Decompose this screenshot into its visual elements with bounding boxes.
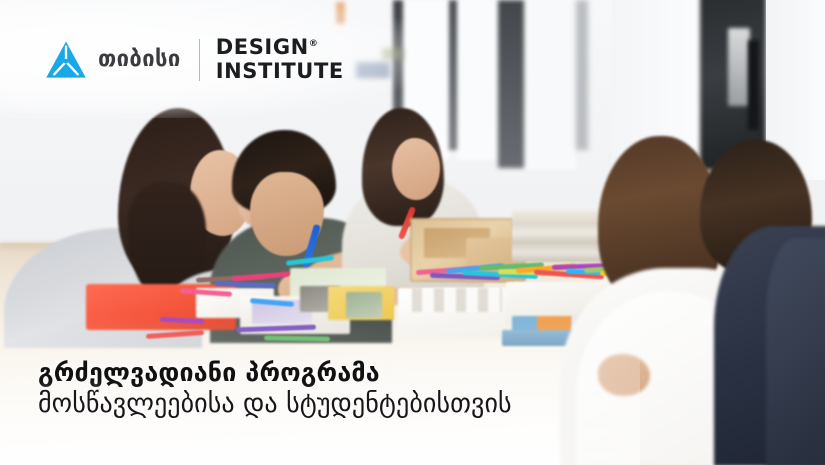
background-object	[748, 40, 759, 130]
person-front-right-sleeve	[766, 238, 825, 465]
person-middle-face	[392, 138, 440, 200]
wall-panel-light	[524, 0, 576, 170]
background-orange-item	[336, 2, 345, 24]
design-institute-line-1: DESIGN®	[216, 36, 344, 60]
registered-mark: ®	[309, 39, 318, 49]
design-institute-banner: თიბისი DESIGN® INSTITUTE გრძელვადიანი პრ…	[0, 0, 825, 465]
design-word: DESIGN	[216, 35, 309, 59]
wall-panel-grey	[576, 0, 588, 150]
design-institute-wordmark: DESIGN® INSTITUTE	[216, 36, 344, 84]
background-blue-item	[356, 62, 390, 78]
design-institute-line-2: INSTITUTE	[216, 60, 344, 84]
stacked-books	[512, 210, 610, 262]
brand-wordmark-georgian: თიბისი	[98, 49, 181, 71]
background-olive-item	[382, 48, 404, 60]
tbc-triangle-logo-icon	[45, 40, 87, 80]
caption-subline: მოსწავლეებისა და სტუდენტებისთვის	[38, 389, 512, 421]
logo-divider	[199, 39, 200, 81]
paper-swatch-sage	[346, 292, 382, 318]
wall-panel-light	[457, 0, 498, 160]
person-front-left-hand	[598, 354, 650, 396]
background-object	[728, 28, 750, 106]
wall-panel-dark	[498, 0, 524, 168]
wall-panel-dark	[449, 0, 457, 150]
caption-block: გრძელვადიანი პროგრამა მოსწავლეებისა და ს…	[38, 358, 512, 421]
magazine-print	[412, 288, 502, 312]
brand-logo-lockup: თიბისი DESIGN® INSTITUTE	[45, 36, 344, 84]
caption-headline: გრძელვადიანი პროგრამა	[38, 358, 512, 388]
